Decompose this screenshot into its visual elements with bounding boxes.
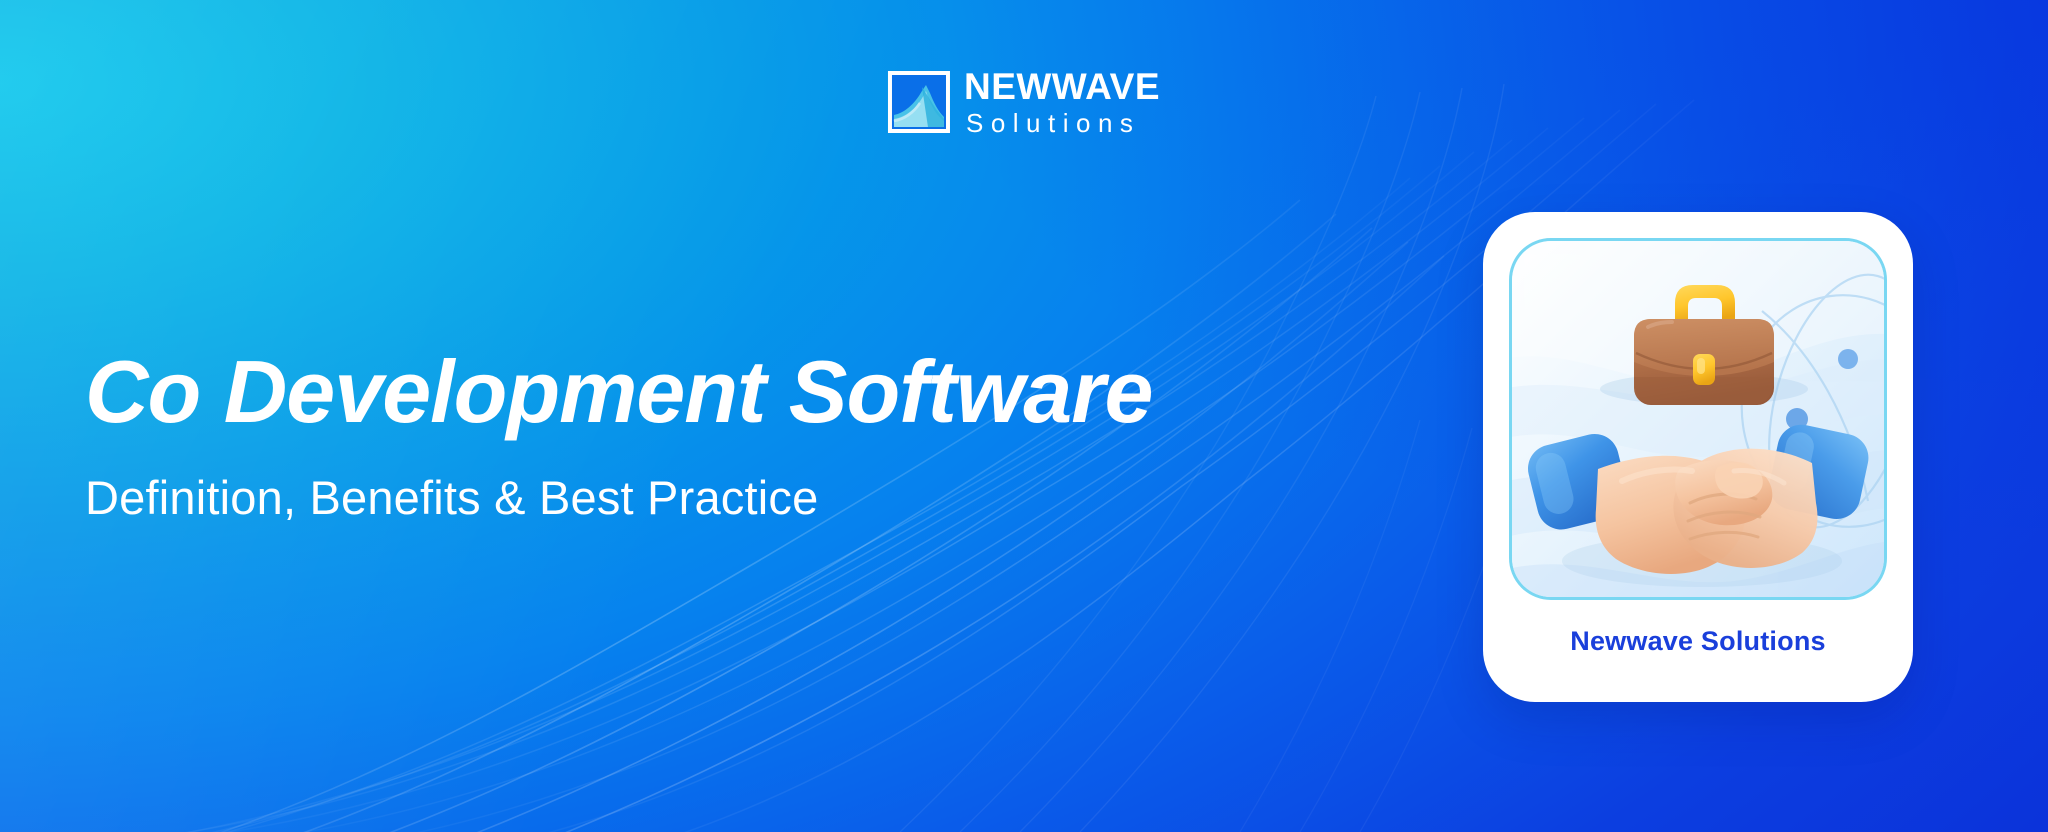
page-title: Co Development Software: [85, 345, 1385, 438]
feature-card[interactable]: Newwave Solutions: [1483, 212, 1913, 702]
hero-banner: NEWWAVE Solutions Co Development Softwar…: [0, 0, 2048, 832]
logo-wordmark: NEWWAVE Solutions: [964, 68, 1160, 136]
logo-name-primary: NEWWAVE: [964, 68, 1160, 105]
logo-name-secondary: Solutions: [964, 110, 1160, 136]
briefcase-and-handshake-3d-illustration: [1509, 238, 1887, 600]
hero-text-block: Co Development Software Definition, Bene…: [85, 345, 1385, 527]
newwave-mountain-wave-logo-icon: [888, 71, 950, 133]
page-subtitle: Definition, Benefits & Best Practice: [85, 470, 1385, 526]
card-label: Newwave Solutions: [1570, 626, 1825, 657]
site-logo[interactable]: NEWWAVE Solutions: [888, 68, 1160, 136]
